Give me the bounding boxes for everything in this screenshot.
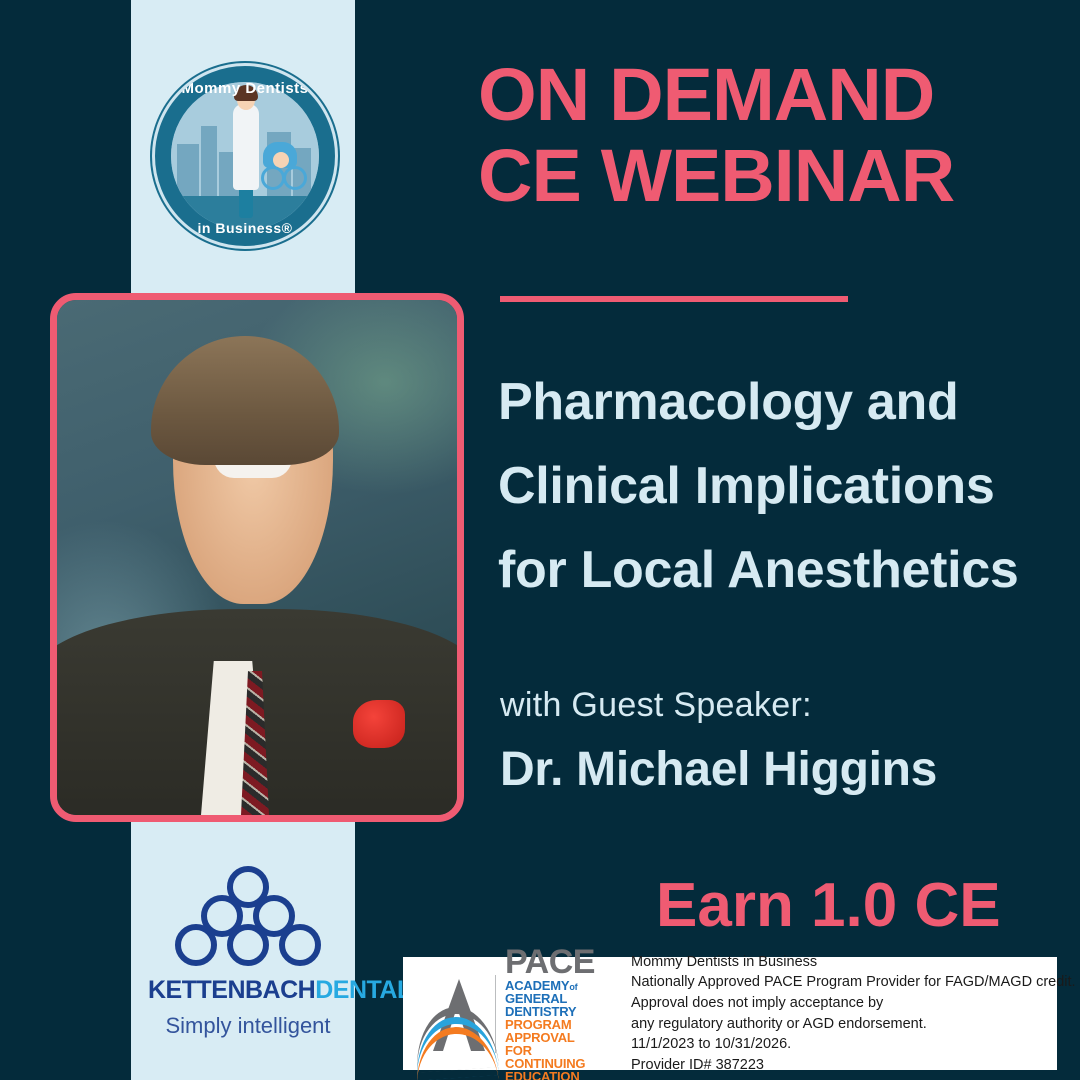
- title-line-1: Pharmacology and: [498, 360, 1058, 444]
- circle-icon: [227, 924, 269, 966]
- logo-text-top: Mommy Dentists: [181, 80, 308, 97]
- logo-text-bottom: in Business®: [198, 220, 293, 236]
- pace-text-line-5: 11/1/2023 to 10/31/2026.: [631, 1034, 1076, 1055]
- kettenbach-wordmark: KETTENBACHDENTAL: [148, 976, 348, 1005]
- photo-pocket-square: [353, 700, 405, 748]
- pace-title: PACE: [505, 945, 607, 979]
- pace-approval-block: PACE ACADEMYof GENERAL DENTISTRY PROGRAM…: [403, 957, 1057, 1070]
- pace-logo-line-1: ACADEMYof: [505, 979, 607, 992]
- circle-icon: [175, 924, 217, 966]
- pace-logo-line-4: FOR CONTINUING: [505, 1044, 607, 1070]
- logo-ring-text: Mommy Dentists in Business®: [155, 66, 335, 246]
- headline-divider: [500, 296, 848, 302]
- kettenbach-name: KETTENBACH: [148, 976, 315, 1004]
- pace-logo-line-5: EDUCATION: [505, 1070, 607, 1080]
- kettenbach-dental-logo: KETTENBACHDENTAL Simply intelligent: [148, 866, 348, 1046]
- kettenbach-tagline: Simply intelligent: [148, 1013, 348, 1039]
- poster-headline: ON DEMAND CE WEBINAR: [478, 54, 1080, 217]
- pace-text-line-3: Approval does not imply acceptance by: [631, 993, 1076, 1014]
- pace-approval-text: Mommy Dentists in Business Nationally Ap…: [607, 952, 1080, 1075]
- mommy-dentists-in-business-logo: Mommy Dentists in Business®: [152, 63, 338, 249]
- headline-line-2: CE WEBINAR: [478, 135, 1080, 216]
- pace-of-word: of: [569, 982, 577, 992]
- pace-text-line-1: Mommy Dentists in Business: [631, 952, 1076, 973]
- guest-speaker-label: with Guest Speaker:: [500, 686, 812, 725]
- headline-line-1: ON DEMAND: [478, 54, 1080, 135]
- pace-logo-divider: [495, 975, 496, 1053]
- pace-wordmark: PACE ACADEMYof GENERAL DENTISTRY PROGRAM…: [505, 945, 607, 1080]
- pace-text-line-4: any regulatory authority or AGD endorsem…: [631, 1014, 1076, 1035]
- kettenbach-circles-icon: [172, 866, 324, 966]
- pace-text-line-6: Provider ID# 387223: [631, 1055, 1076, 1076]
- title-line-3: for Local Anesthetics: [498, 528, 1058, 612]
- guest-speaker-name: Dr. Michael Higgins: [500, 742, 937, 797]
- pace-text-line-2: Nationally Approved PACE Program Provide…: [631, 972, 1076, 993]
- kettenbach-dental: DENTAL: [315, 976, 412, 1004]
- pace-logo: PACE ACADEMYof GENERAL DENTISTRY PROGRAM…: [417, 966, 607, 1062]
- pace-logo-line-2: GENERAL DENTISTRY: [505, 992, 607, 1018]
- pace-logo-line-3: PROGRAM APPROVAL: [505, 1018, 607, 1044]
- webinar-title: Pharmacology and Clinical Implications f…: [498, 360, 1058, 613]
- webinar-poster: Mommy Dentists in Business® KETTENBACH: [0, 0, 1080, 1080]
- circle-icon: [279, 924, 321, 966]
- pace-a-mark-icon: [417, 973, 493, 1055]
- ce-credit-callout: Earn 1.0 CE: [656, 870, 1001, 941]
- title-line-2: Clinical Implications: [498, 444, 1058, 528]
- speaker-photo: [50, 293, 464, 822]
